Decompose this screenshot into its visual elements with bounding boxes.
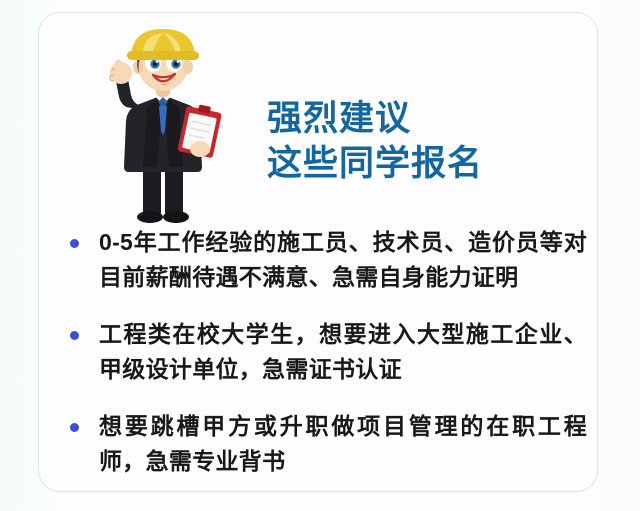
bullet-text-3: 想要跳槽甲方或升职做项目管理的在职工程师，急需专业背书 bbox=[99, 409, 587, 479]
list-item: 工程类在校大学生，想要进入大型施工企业、甲级设计单位，急需证书认证 bbox=[39, 317, 599, 387]
engineer-thumbs-up-illustration bbox=[81, 27, 246, 227]
headline-line-2: 这些同学报名 bbox=[267, 141, 483, 186]
bullet-dot-icon bbox=[70, 423, 79, 432]
bullet-dot-icon bbox=[70, 239, 79, 248]
list-item: 0-5年工作经验的施工员、技术员、造价员等对目前薪酬待遇不满意、急需自身能力证明 bbox=[39, 225, 599, 295]
content-card: 强烈建议 这些同学报名 0-5年工作经验的施工员、技术员、造价员等对目前薪酬待遇… bbox=[38, 12, 598, 492]
bullet-list: 0-5年工作经验的施工员、技术员、造价员等对目前薪酬待遇不满意、急需自身能力证明… bbox=[39, 225, 599, 501]
bullet-text-2: 工程类在校大学生，想要进入大型施工企业、甲级设计单位，急需证书认证 bbox=[99, 317, 587, 387]
bullet-dot-icon bbox=[70, 331, 79, 340]
poster-header: 强烈建议 这些同学报名 bbox=[39, 13, 599, 223]
bullet-text-1: 0-5年工作经验的施工员、技术员、造价员等对目前薪酬待遇不满意、急需自身能力证明 bbox=[99, 225, 587, 295]
poster-root: 强烈建议 这些同学报名 0-5年工作经验的施工员、技术员、造价员等对目前薪酬待遇… bbox=[0, 0, 640, 511]
headline-line-1: 强烈建议 bbox=[267, 96, 483, 141]
list-item: 想要跳槽甲方或升职做项目管理的在职工程师，急需专业背书 bbox=[39, 409, 599, 479]
poster-headline: 强烈建议 这些同学报名 bbox=[267, 96, 483, 186]
